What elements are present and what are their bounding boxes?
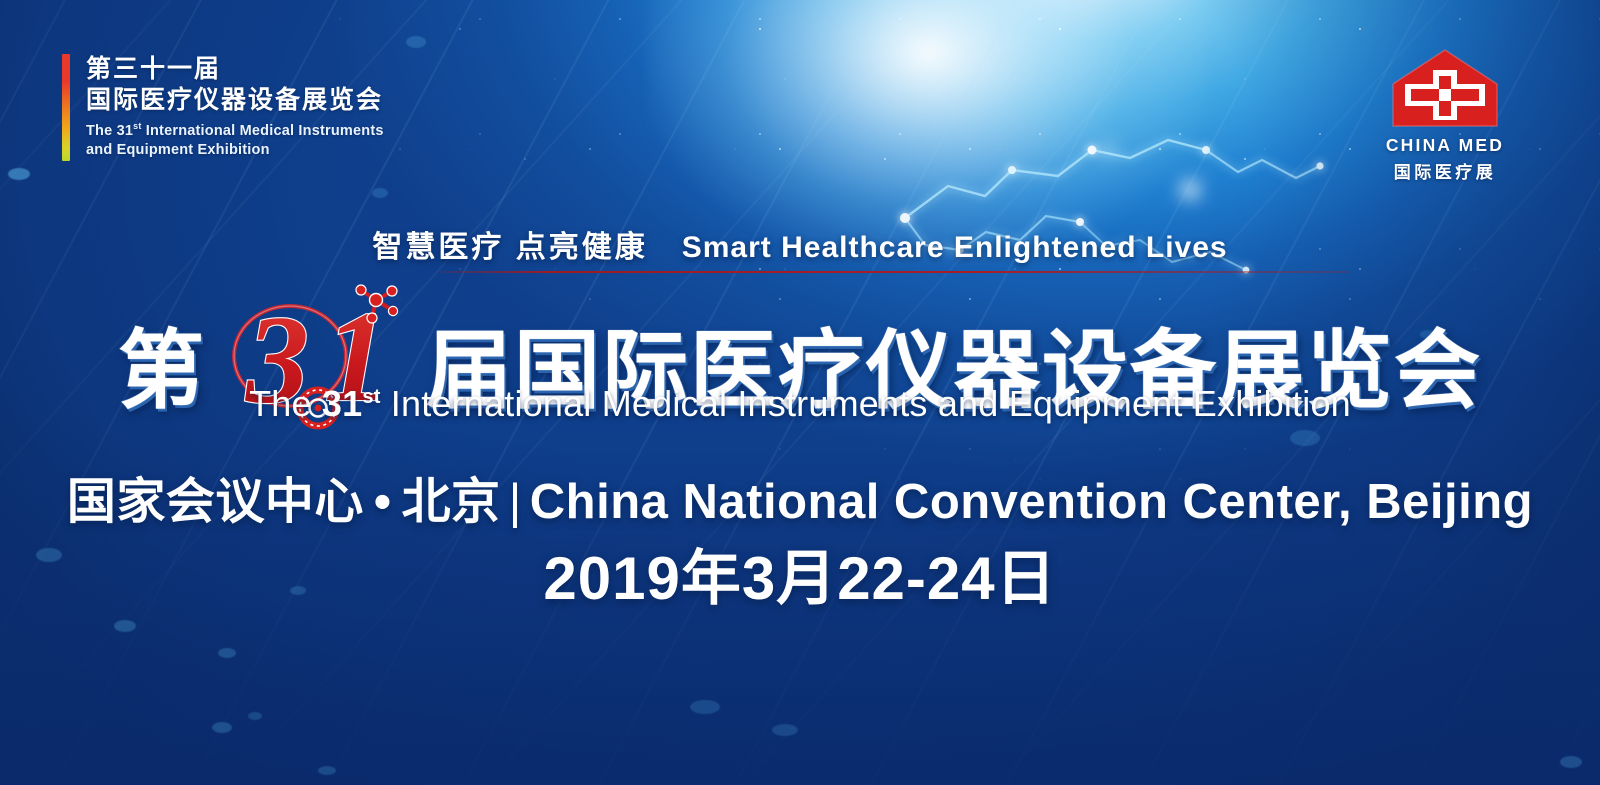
bokeh-dot <box>406 36 426 48</box>
header-text-group: 第三十一届 国际医疗仪器设备展览会 The 31st International… <box>86 54 384 161</box>
venue-line: 国家会议中心•北京|China National Convention Cent… <box>0 462 1600 533</box>
subtitle-pre: The <box>249 383 322 424</box>
venue-cn: 国家会议中心 <box>67 475 364 529</box>
header-en-sup: st <box>133 121 141 131</box>
exhibition-banner: 第三十一届 国际医疗仪器设备展览会 The 31st International… <box>0 0 1600 785</box>
header-name-cn: 国际医疗仪器设备展览会 <box>86 85 384 116</box>
header-block: 第三十一届 国际医疗仪器设备展览会 The 31st International… <box>62 54 384 161</box>
china-med-logo: CHINA MED 国际医疗展 <box>1370 48 1520 183</box>
title-subtitle-en: The 31st International Medical Instrumen… <box>0 383 1600 425</box>
subtitle-sup: st <box>362 386 380 408</box>
header-edition-cn: 第三十一届 <box>86 54 384 85</box>
bokeh-dot <box>318 766 336 775</box>
header-name-en: The 31st International Medical Instrumen… <box>86 120 384 161</box>
venue-city-cn: 北京 <box>402 475 501 529</box>
subtitle-post: International Medical Instruments and Eq… <box>381 383 1351 424</box>
bokeh-dot <box>8 168 30 180</box>
subtitle-number: 31 <box>322 383 362 424</box>
header-en-post: International Medical Instruments <box>142 123 384 139</box>
date-line: 2019年3月22-24日 <box>0 530 1600 617</box>
accent-gradient-bar <box>62 54 70 161</box>
venue-en: China National Convention Center, Beijin… <box>530 475 1533 529</box>
tagline-red-rule <box>440 271 1350 273</box>
header-en-line2: and Equipment Exhibition <box>86 141 384 160</box>
bokeh-dot <box>1560 756 1582 768</box>
china-med-house-cross-icon <box>1389 48 1501 130</box>
tagline-en: Smart Healthcare Enlightened Lives <box>682 231 1228 264</box>
venue-separator-dot: • <box>364 474 402 530</box>
bokeh-dot <box>690 700 720 714</box>
bokeh-dot <box>212 722 232 733</box>
bokeh-dot <box>114 620 136 632</box>
bokeh-dot <box>218 648 236 658</box>
tagline-cn: 智慧医疗 点亮健康 <box>372 231 647 264</box>
venue-separator-bar: | <box>501 474 530 530</box>
bokeh-dot <box>248 712 262 720</box>
logo-text-en: CHINA MED <box>1386 135 1504 156</box>
bokeh-dot <box>772 724 798 736</box>
logo-text-cn: 国际医疗展 <box>1394 158 1497 183</box>
header-en-pre: The 31 <box>86 123 133 139</box>
tagline: 智慧医疗 点亮健康Smart Healthcare Enlightened Li… <box>0 222 1600 266</box>
bokeh-dot <box>372 188 388 198</box>
